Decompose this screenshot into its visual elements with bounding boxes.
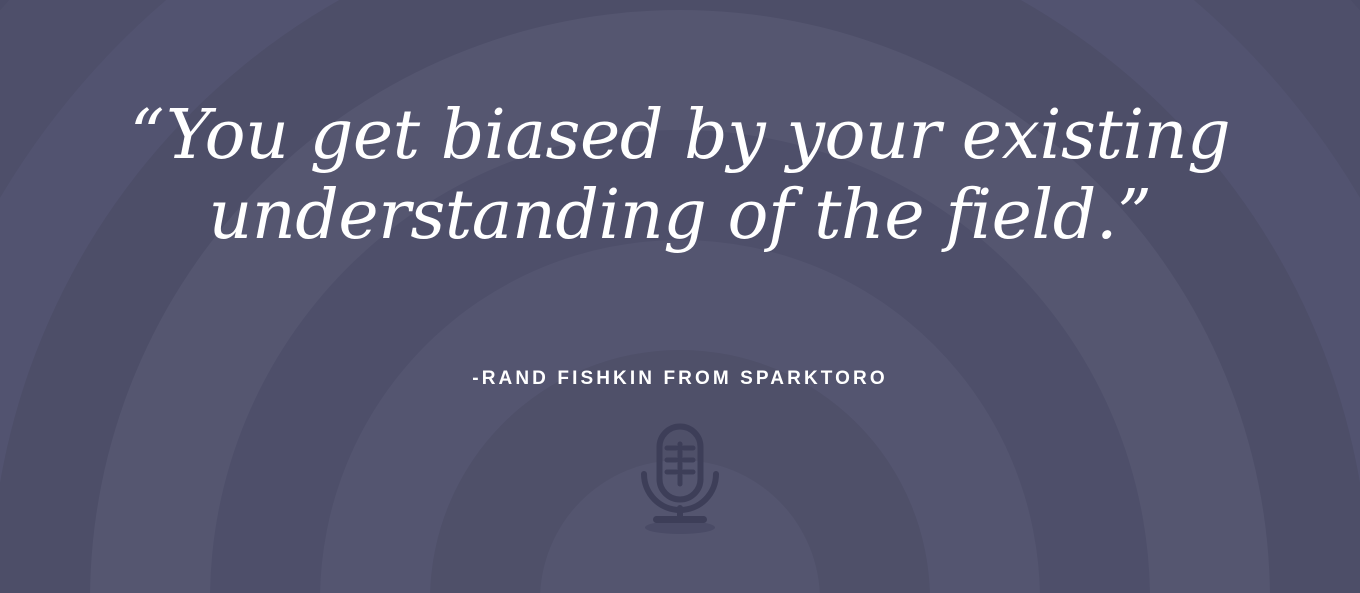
quote-line-1: “You get biased by your existing: [90, 96, 1270, 176]
quote-text: “You get biased by your existing underst…: [90, 96, 1270, 256]
quote-card: “You get biased by your existing underst…: [0, 0, 1360, 593]
quote-line-2: understanding of the field.”: [90, 176, 1270, 256]
card-content: “You get biased by your existing underst…: [0, 0, 1360, 593]
attribution-text: -RAND FISHKIN FROM SPARKTORO: [472, 368, 887, 390]
microphone-icon: [632, 422, 728, 538]
